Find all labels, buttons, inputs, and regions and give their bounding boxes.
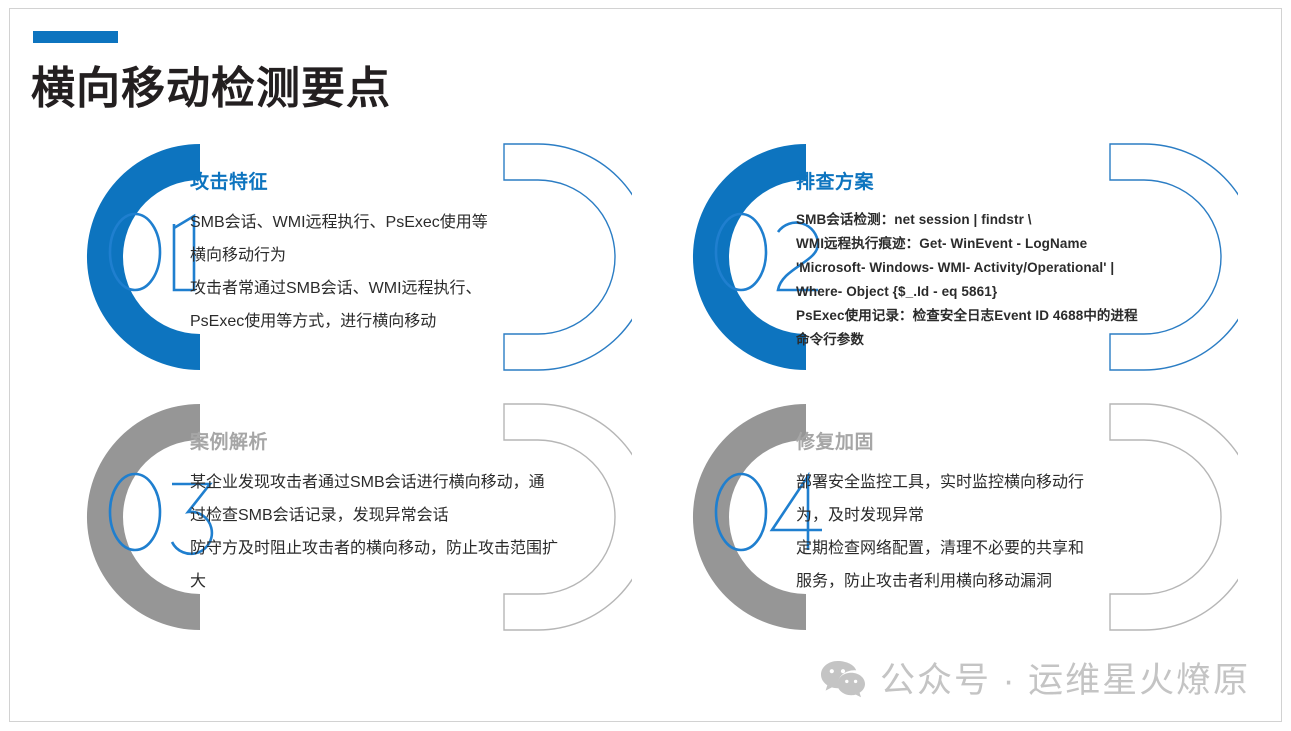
- card-01-body: SMB会话、WMI远程执行、PsExec使用等 横向移动行为 攻击者常通过SMB…: [190, 206, 560, 338]
- watermark: 公众号 · 运维星火燎原: [820, 652, 1250, 703]
- card-03-line-4: 大: [190, 565, 560, 598]
- card-02-line-3: 'Microsoft- Windows- WMI- Activity/Opera…: [796, 256, 1156, 280]
- card-02-line-5: PsExec使用记录：检查安全日志Event ID 4688中的进程: [796, 304, 1156, 328]
- card-01-line-2: 横向移动行为: [190, 239, 560, 272]
- card-04-body: 部署安全监控工具，实时监控横向移动行 为，及时发现异常 定期检查网络配置，清理不…: [796, 466, 1166, 598]
- card-04: 修复加固 部署安全监控工具，实时监控横向移动行 为，及时发现异常 定期检查网络配…: [688, 398, 1248, 648]
- title-accent-bar: [33, 31, 118, 43]
- card-01-line-3: 攻击者常通过SMB会话、WMI远程执行、: [190, 272, 560, 305]
- watermark-text: 公众号 · 运维星火燎原: [880, 652, 1250, 703]
- card-03-line-1: 某企业发现攻击者通过SMB会话进行横向移动，通: [190, 466, 560, 499]
- card-04-line-1: 部署安全监控工具，实时监控横向移动行: [796, 466, 1166, 499]
- card-02-body: SMB会话检测：net session | findstr \ WMI远程执行痕…: [796, 208, 1156, 352]
- card-03-body: 某企业发现攻击者通过SMB会话进行横向移动，通 过检查SMB会话记录，发现异常会…: [190, 466, 560, 598]
- card-03-line-3: 防守方及时阻止攻击者的横向移动，防止攻击范围扩: [190, 532, 560, 565]
- card-01-line-4: PsExec使用等方式，进行横向移动: [190, 305, 560, 338]
- card-01-heading: 攻击特征: [190, 167, 268, 194]
- card-01-line-1: SMB会话、WMI远程执行、PsExec使用等: [190, 206, 560, 239]
- card-01: 攻击特征 SMB会话、WMI远程执行、PsExec使用等 横向移动行为 攻击者常…: [82, 138, 642, 388]
- card-02-line-6: 命令行参数: [796, 328, 1156, 352]
- card-04-line-4: 服务，防止攻击者利用横向移动漏洞: [796, 565, 1166, 598]
- card-02-line-4: Where- Object {$_.Id - eq 5861}: [796, 280, 1156, 304]
- card-04-line-2: 为，及时发现异常: [796, 499, 1166, 532]
- page-title: 横向移动检测要点: [31, 52, 391, 116]
- card-02: 排查方案 SMB会话检测：net session | findstr \ WMI…: [688, 138, 1248, 388]
- wechat-icon: [820, 658, 866, 698]
- card-02-heading: 排查方案: [796, 167, 874, 194]
- card-04-heading: 修复加固: [796, 427, 874, 454]
- card-02-line-1: SMB会话检测：net session | findstr \: [796, 208, 1156, 232]
- card-03-heading: 案例解析: [190, 427, 268, 454]
- card-04-line-3: 定期检查网络配置，清理不必要的共享和: [796, 532, 1166, 565]
- card-03: 案例解析 某企业发现攻击者通过SMB会话进行横向移动，通 过检查SMB会话记录，…: [82, 398, 642, 648]
- card-03-line-2: 过检查SMB会话记录，发现异常会话: [190, 499, 560, 532]
- card-02-line-2: WMI远程执行痕迹：Get- WinEvent - LogName: [796, 232, 1156, 256]
- slide-canvas: 横向移动检测要点 攻击特征 SMB会话、WMI远程执行、PsExec使用等 横向…: [0, 0, 1291, 731]
